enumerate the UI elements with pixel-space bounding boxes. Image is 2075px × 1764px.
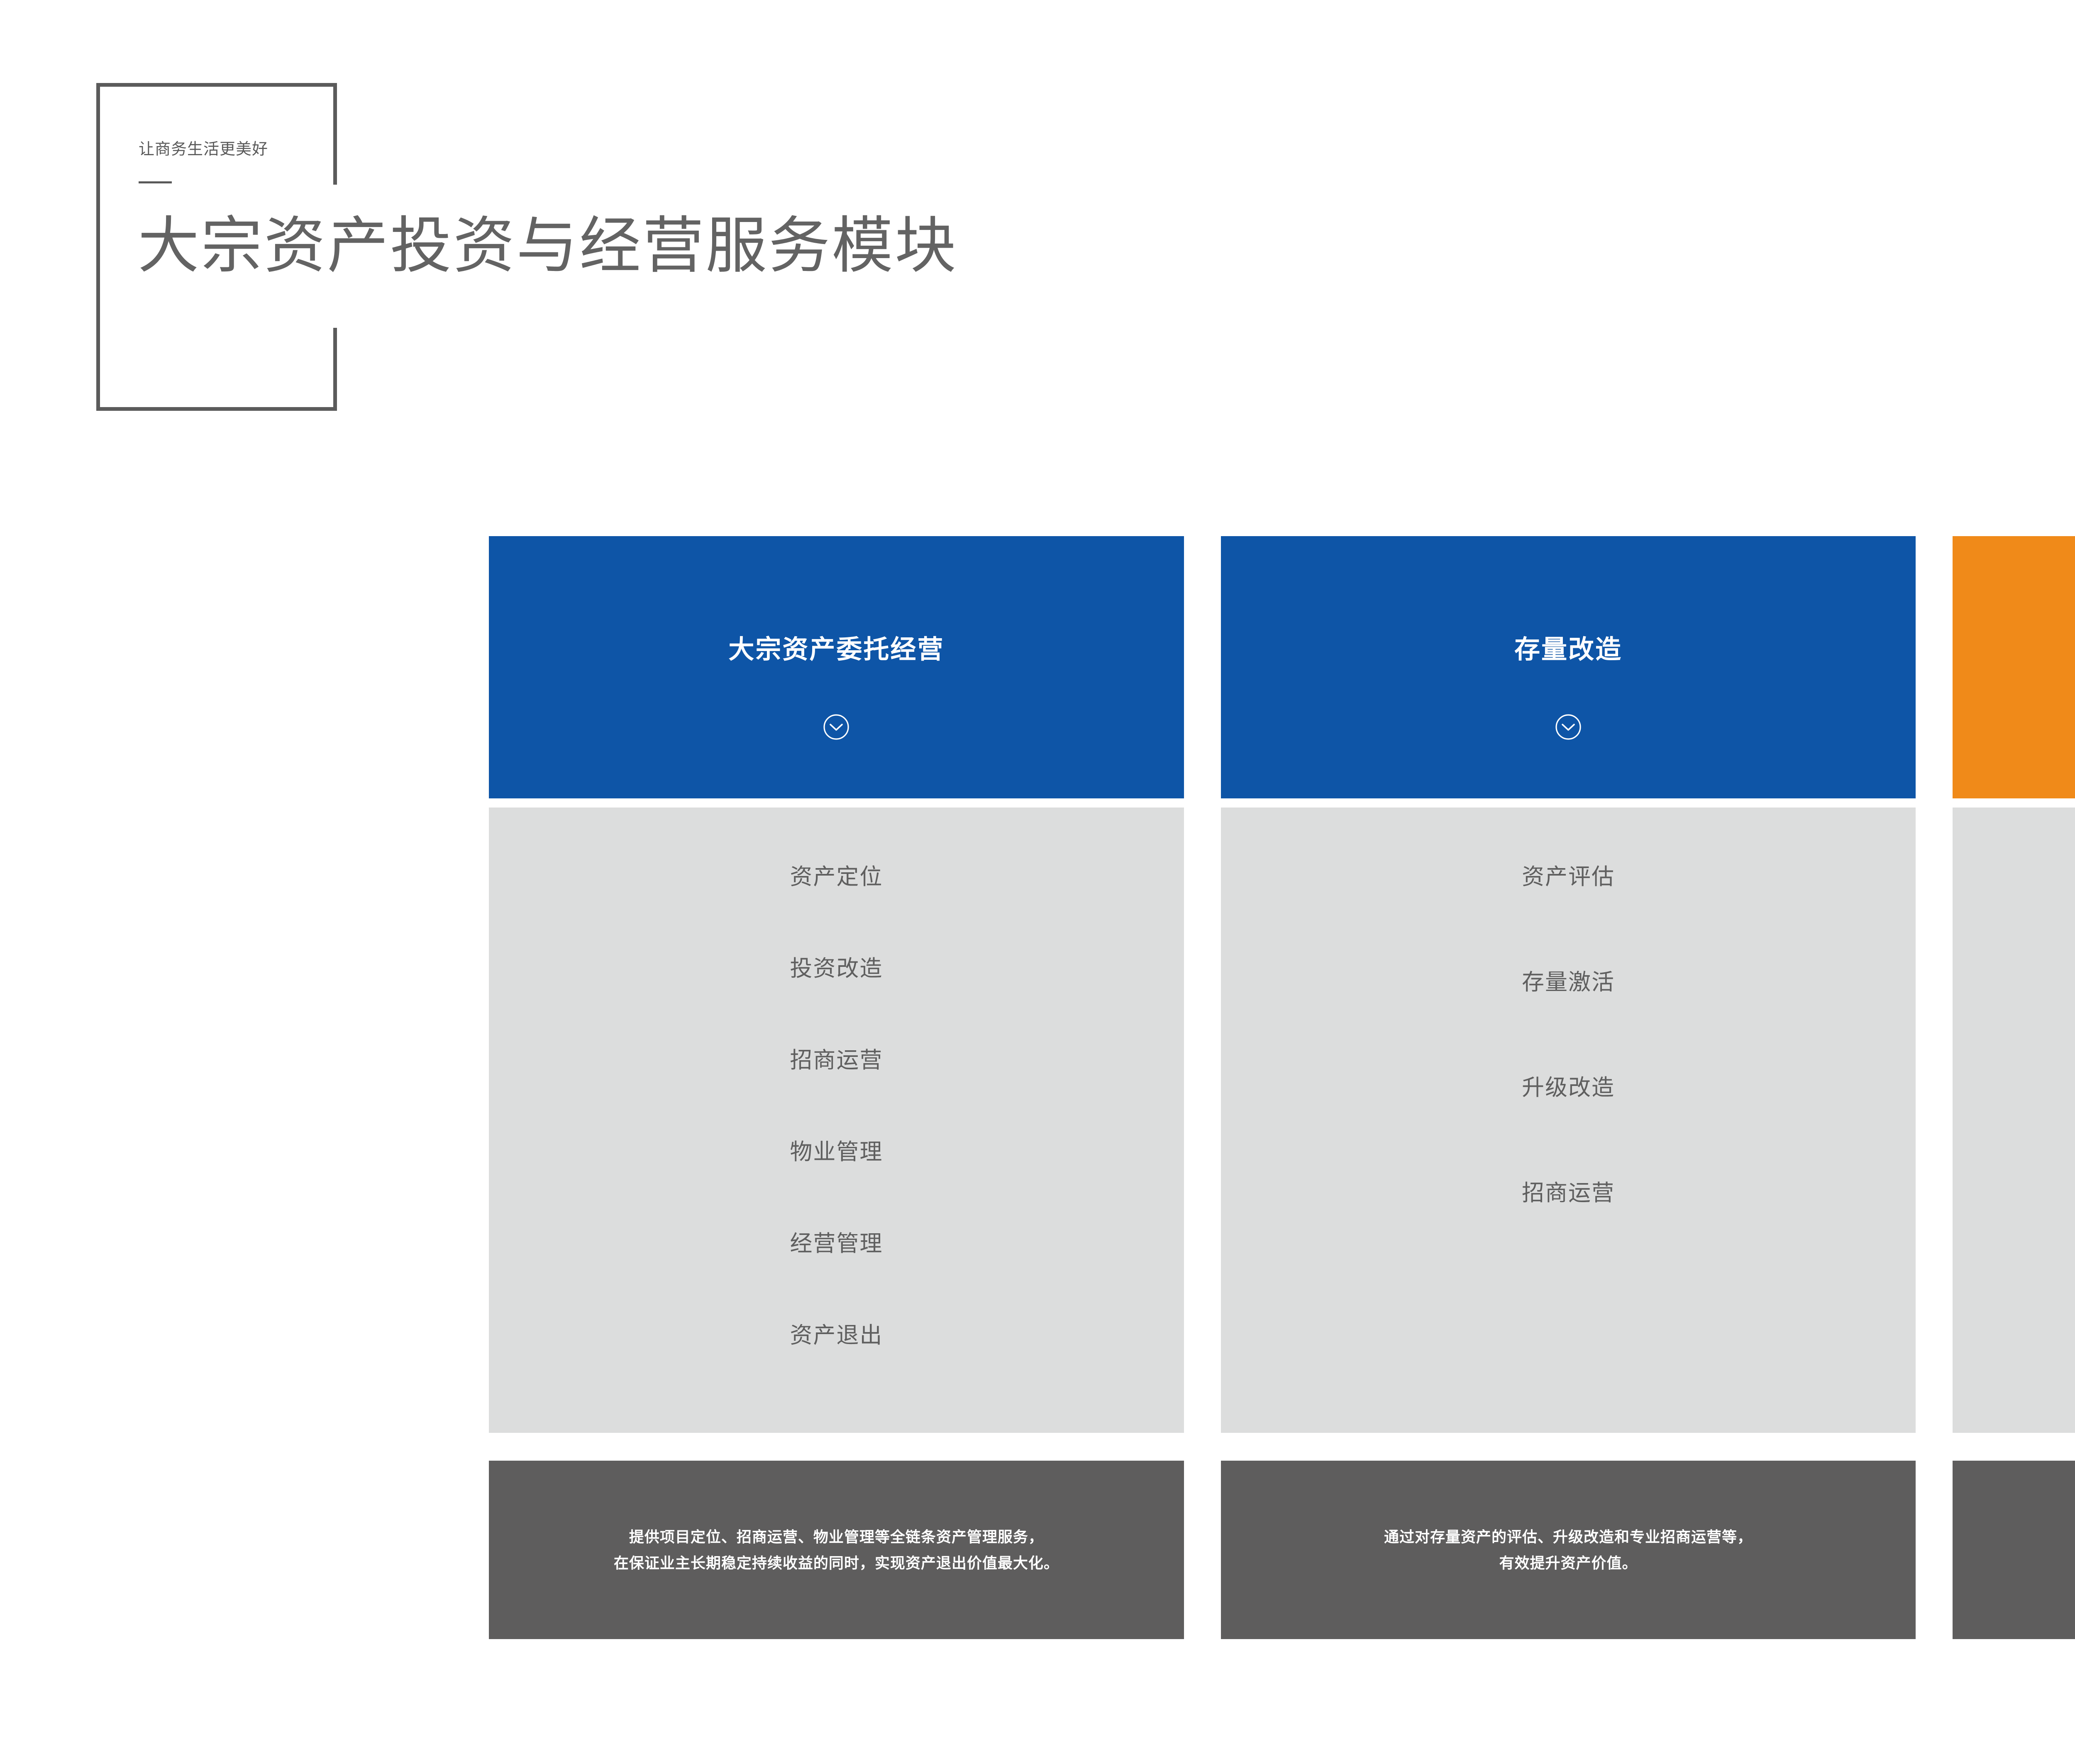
list-item[interactable]: 招商运营 [1522, 1182, 1615, 1204]
frame-top-edge [96, 83, 337, 87]
card-description-line: 有效提升资产价值。 [1499, 1550, 1638, 1576]
list-item[interactable]: 物业管理 [790, 1141, 883, 1163]
card-item-list: 资源对接 房屋评估 交易方案 谈判策略 交付协助 [1953, 808, 2075, 1433]
list-item[interactable]: 升级改造 [1522, 1076, 1615, 1099]
service-card[interactable]: 大宗资产委托经营 资产定位 投资改造 招商运营 物业管理 经营管理 资产退出 提… [489, 536, 1184, 1639]
card-item-list: 资产评估 存量激活 升级改造 招商运营 [1221, 808, 1916, 1433]
service-card[interactable]: 存量改造 资产评估 存量激活 升级改造 招商运营 通过对存量资产的评估、升级改造… [1221, 536, 1916, 1639]
tagline-divider [139, 181, 172, 183]
list-item[interactable]: 招商运营 [790, 1049, 883, 1071]
chevron-down-circle-icon[interactable] [1555, 714, 1582, 740]
header-tagline: 让商务生活更美好 [139, 136, 268, 159]
card-header[interactable]: 大宗交易 [1953, 536, 2075, 798]
card-item-list: 资产定位 投资改造 招商运营 物业管理 经营管理 资产退出 [489, 808, 1184, 1433]
card-description: 通过对存量资产的评估、升级改造和专业招商运营等， 有效提升资产价值。 [1221, 1461, 1916, 1639]
card-description-line: 在保证业主长期稳定持续收益的同时，实现资产退出价值最大化。 [614, 1550, 1059, 1576]
list-item[interactable]: 资产评估 [1522, 866, 1615, 888]
list-item[interactable]: 资产退出 [790, 1324, 883, 1347]
card-description: 为买卖双方提供资源对接、房屋评估、 交易方案等专业化服务，促成交易达成。 [1953, 1461, 2075, 1639]
frame-right-lower-stub [333, 328, 337, 411]
list-item[interactable]: 存量激活 [1522, 971, 1615, 993]
card-title: 大宗资产委托经营 [728, 628, 944, 666]
card-description-line: 通过对存量资产的评估、升级改造和专业招商运营等， [1384, 1524, 1753, 1550]
chevron-down-circle-icon[interactable] [823, 714, 850, 740]
service-card[interactable]: 大宗交易 资源对接 房屋评估 交易方案 谈判策略 交付协助 为买卖双方提供资源对… [1953, 536, 2075, 1639]
frame-right-upper-stub [333, 83, 337, 185]
card-description-line: 提供项目定位、招商运营、物业管理等全链条资产管理服务， [629, 1524, 1044, 1550]
service-cards-row: 大宗资产委托经营 资产定位 投资改造 招商运营 物业管理 经营管理 资产退出 提… [489, 536, 2075, 1639]
card-title: 存量改造 [1514, 628, 1622, 666]
frame-left-edge [96, 83, 100, 411]
card-description: 提供项目定位、招商运营、物业管理等全链条资产管理服务， 在保证业主长期稳定持续收… [489, 1461, 1184, 1639]
list-item[interactable]: 经营管理 [790, 1232, 883, 1255]
list-item[interactable]: 资产定位 [790, 866, 883, 888]
page-title: 大宗资产投资与经营服务模块 [138, 211, 958, 281]
list-item[interactable]: 投资改造 [790, 957, 883, 980]
card-header[interactable]: 大宗资产委托经营 [489, 536, 1184, 798]
frame-bottom-edge [96, 407, 337, 411]
card-header[interactable]: 存量改造 [1221, 536, 1916, 798]
